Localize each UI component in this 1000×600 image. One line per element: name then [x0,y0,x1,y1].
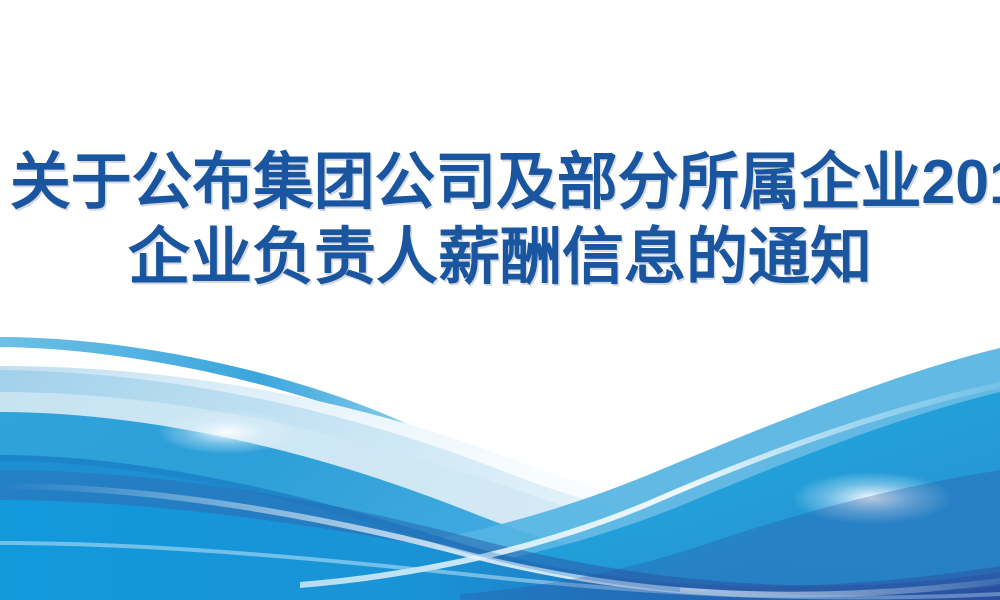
wave-band-pale [0,366,1000,600]
wave-body-azure [0,455,1000,600]
title-line-1: 关于公布集团公司及部分所属企业2017年度 [10,148,990,217]
wave-sparkle-right [792,472,952,524]
wave-highlight-line-1 [0,483,1000,598]
wave-shadow-band-2 [460,470,1000,600]
wave-thin-arc [0,337,430,443]
wave-backdrop [0,0,1000,600]
wave-highlight-line-3 [0,541,1000,600]
wave-band-mid [0,412,1000,600]
wave-sweep-right [0,348,1000,600]
wave-ribbon-steel [0,470,1000,600]
banner-title-block: 关于公布集团公司及部分所属企业2017年度 企业负责人薪酬信息的通知 [0,148,1000,293]
wave-sparkle-left [158,410,298,454]
wave-sweep-right-2 [0,392,1000,600]
abstract-wave-graphic [0,0,1000,600]
title-line-2: 企业负责人薪酬信息的通知 [0,223,1000,292]
wave-foreground-crest [0,500,1000,600]
wave-highlight-line-2 [300,382,1000,588]
wave-band-light [0,370,1000,600]
notice-banner: 关于公布集团公司及部分所属企业2017年度 企业负责人薪酬信息的通知 [0,0,1000,600]
wave-shadow-band-1 [0,455,680,592]
wave-band-light-2 [0,392,1000,600]
